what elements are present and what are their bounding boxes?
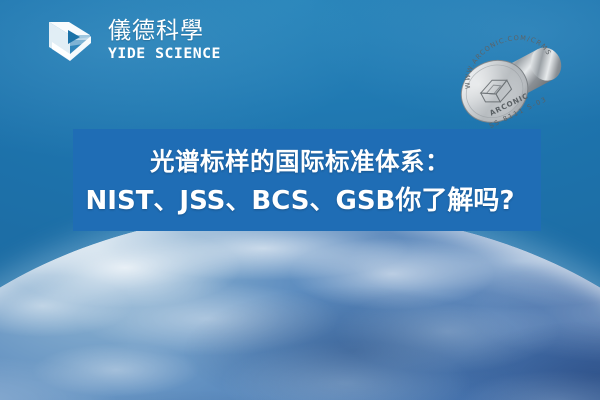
brand-name-cn: 儀德科學	[108, 20, 219, 43]
banner-title-line-2: NIST、JSS、BCS、GSB你了解吗?	[86, 180, 515, 217]
poster-canvas: 儀德科學 YIDE SCIENCE	[0, 0, 600, 400]
yide-play-arrow-logo-icon	[46, 16, 100, 66]
banner-title-line-1: 光谱标样的国际标准体系：	[150, 143, 450, 178]
title-text-block: 光谱标样的国际标准体系： NIST、JSS、BCS、GSB你了解吗?	[0, 129, 600, 231]
brand-logo-text: 儀德科學 YIDE SCIENCE	[108, 20, 219, 62]
brand-name-en: YIDE SCIENCE	[108, 47, 221, 62]
brand-logo: 儀德科學 YIDE SCIENCE	[46, 16, 219, 66]
